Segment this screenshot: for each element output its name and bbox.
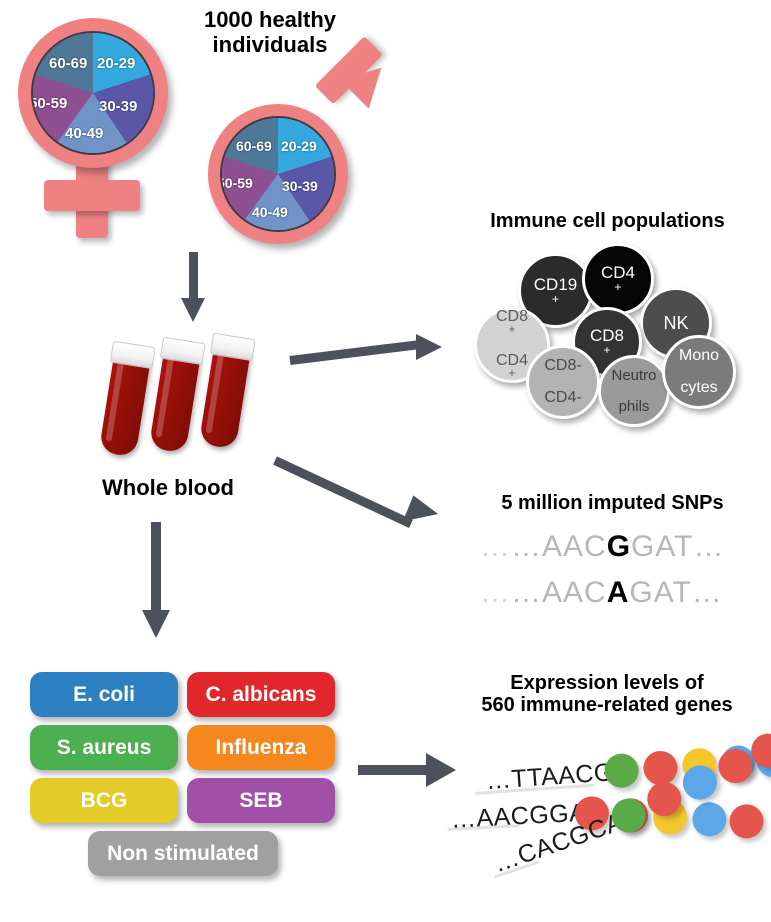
tube-body — [99, 355, 151, 458]
expression-title: Expression levels of 560 immune-related … — [452, 672, 762, 717]
stimulus-e-coli[interactable]: E. coli — [30, 672, 178, 717]
stimulus-non-stimulated[interactable]: Non stimulated — [88, 831, 278, 876]
arrow-blood-to-stimuli — [138, 522, 174, 642]
stimulus-c-albicans[interactable]: C. albicans — [187, 672, 335, 717]
arrow-shaft — [189, 252, 198, 302]
immune-title: Immune cell populations — [455, 210, 760, 232]
snps-title: 5 million imputed SNPs — [470, 492, 755, 514]
arrow-head — [181, 298, 205, 322]
tube-body — [149, 351, 201, 454]
snp-ellipsis-left: … — [480, 530, 511, 563]
female-symbol-crossbar — [44, 180, 140, 211]
female-slice-label-20-29: 20-29 — [97, 55, 135, 72]
expression-title-line2: 560 immune-related genes — [452, 694, 762, 716]
gene-dot — [643, 777, 686, 820]
arrow-shaft — [273, 456, 413, 528]
female-slice-label-40-49: 40-49 — [65, 125, 103, 142]
expression-strands-group: …TTAACGG …AACGGAT …CACGCAA — [452, 740, 771, 920]
arrow-shaft — [358, 765, 430, 775]
snp-suffix: GAT… — [629, 576, 722, 609]
stimuli-group: E. coli C. albicans S. aureus Influenza … — [30, 672, 340, 897]
arrow-blood-to-snps — [275, 448, 460, 553]
female-symbol: 20-29 30-39 40-49 50-59 60-69 — [10, 12, 185, 237]
stimulus-bcg[interactable]: BCG — [30, 778, 178, 823]
cohort-title-line1: 1000 healthy — [175, 8, 365, 33]
immune-cell-monocytes: Monocytes — [662, 335, 736, 409]
male-slice-label-40-49: 40-49 — [252, 204, 288, 220]
snp-sequence-row: ……AACAGAT… — [480, 576, 723, 610]
cohort-title-line2: individuals — [175, 33, 365, 58]
tube-body — [199, 347, 251, 450]
arrow-blood-to-immune — [290, 330, 455, 380]
male-slice-label-20-29: 20-29 — [281, 138, 317, 154]
immune-cell-label: Neutrophils — [611, 368, 656, 414]
blood-tubes-group — [108, 338, 288, 468]
arrow-cohort-to-blood — [178, 252, 208, 324]
snp-sequence-row: ……AACGGAT… — [480, 530, 724, 564]
male-age-pie: 20-29 30-39 40-49 50-59 60-69 — [220, 116, 336, 232]
whole-blood-label: Whole blood — [78, 476, 258, 501]
immune-cells-group: CD19+ CD4+ NK CD8+ CD8+ CD4+ CD8-CD4- Ne… — [450, 245, 770, 425]
arrow-shaft — [289, 340, 421, 365]
snp-prefix: …AAC — [511, 576, 607, 609]
immune-cell-cd4: CD4+ — [582, 243, 654, 315]
snp-variant-allele: G — [607, 530, 631, 563]
immune-cell-label: CD19+ — [534, 276, 577, 306]
arrow-head — [142, 610, 170, 638]
female-slice-label-50-59: 50-59 — [31, 95, 67, 112]
blood-tube — [99, 341, 153, 457]
snp-variant-allele: A — [607, 576, 630, 609]
stimulus-s-aureus[interactable]: S. aureus — [30, 725, 178, 770]
cohort-title: 1000 healthy individuals — [175, 8, 365, 57]
male-slice-label-30-39: 30-39 — [282, 178, 318, 194]
male-symbol-ring: 20-29 30-39 40-49 50-59 60-69 — [208, 104, 348, 244]
female-slice-label-30-39: 30-39 — [99, 98, 137, 115]
female-age-pie: 20-29 30-39 40-49 50-59 60-69 — [31, 31, 155, 155]
immune-cell-label: CD8+ — [590, 327, 624, 357]
immune-cell-label: CD8+ CD4+ — [496, 309, 528, 381]
immune-cell-neutrophils: Neutrophils — [598, 355, 670, 427]
blood-tube — [149, 337, 203, 453]
immune-cell-label: NK — [663, 314, 688, 332]
snp-sequences: ……AACGGAT… ……AACAGAT… — [470, 530, 760, 620]
immune-cell-label: Monocytes — [679, 348, 719, 397]
female-slice-label-60-69: 60-69 — [49, 55, 87, 72]
snp-prefix: …AAC — [511, 530, 607, 563]
arrow-shaft — [151, 522, 161, 614]
immune-cell-label: CD4+ — [601, 264, 635, 294]
arrow-head — [416, 334, 442, 360]
expression-title-line1: Expression levels of — [452, 672, 762, 694]
female-symbol-ring: 20-29 30-39 40-49 50-59 60-69 — [18, 18, 168, 168]
stimulus-influenza[interactable]: Influenza — [187, 725, 335, 770]
snp-ellipsis-left: … — [480, 576, 511, 609]
snp-suffix: GAT… — [631, 530, 724, 563]
immune-cell-label: CD8-CD4- — [544, 358, 581, 407]
immune-cell-cd8-cd4-double-negative: CD8-CD4- — [526, 345, 600, 419]
male-slice-label-50-59: 50-59 — [220, 175, 253, 191]
male-symbol: 20-29 30-39 40-49 50-59 60-69 — [198, 70, 413, 250]
blood-tube — [199, 333, 253, 449]
stimulus-seb[interactable]: SEB — [187, 778, 335, 823]
male-slice-label-60-69: 60-69 — [236, 138, 272, 154]
